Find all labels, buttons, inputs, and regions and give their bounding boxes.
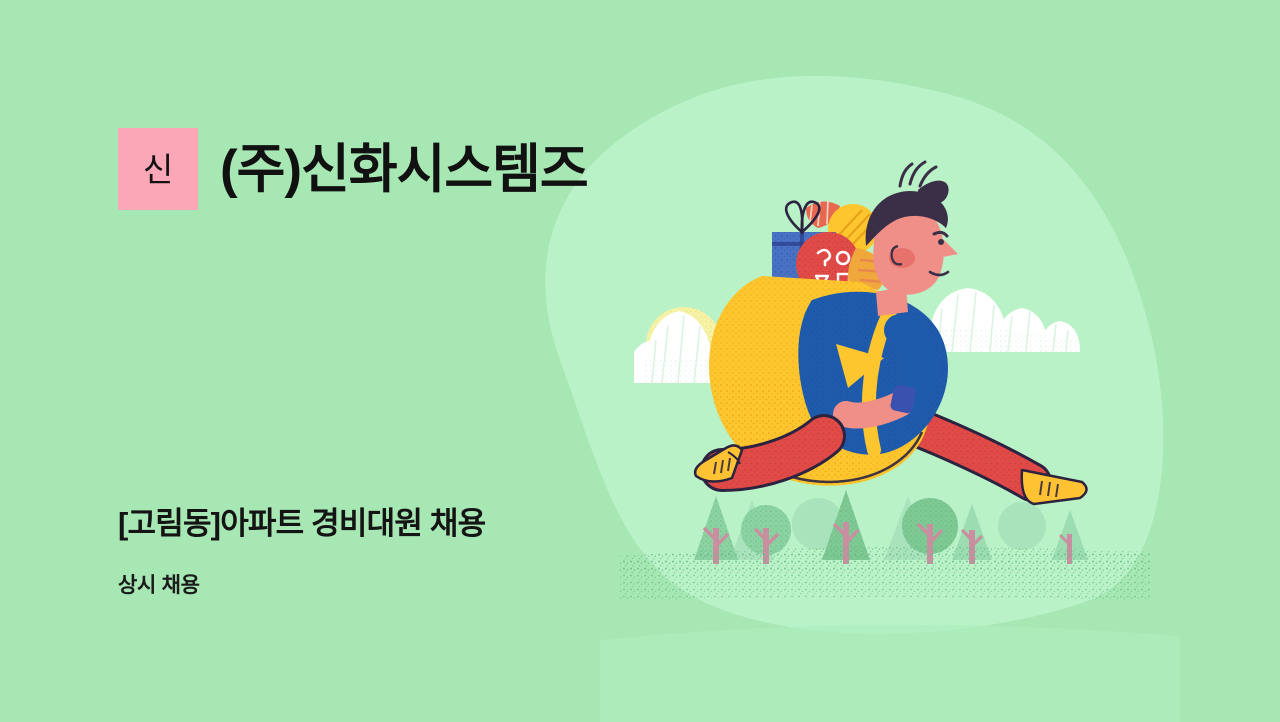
ground-curve bbox=[600, 625, 1180, 722]
illustration-running-man-with-gift-sack bbox=[0, 0, 1280, 722]
job-posting-card: 신 (주)신화시스템즈 [고림동]아파트 경비대원 채용 상시 채용 bbox=[0, 0, 1280, 722]
company-logo-char: 신 bbox=[143, 153, 173, 186]
company-header: 신 (주)신화시스템즈 bbox=[118, 128, 588, 210]
job-title: [고림동]아파트 경비대원 채용 bbox=[118, 505, 485, 542]
company-logo-badge: 신 bbox=[118, 128, 198, 210]
company-name: (주)신화시스템즈 bbox=[220, 143, 588, 196]
job-status-badge: 상시 채용 bbox=[118, 573, 200, 598]
